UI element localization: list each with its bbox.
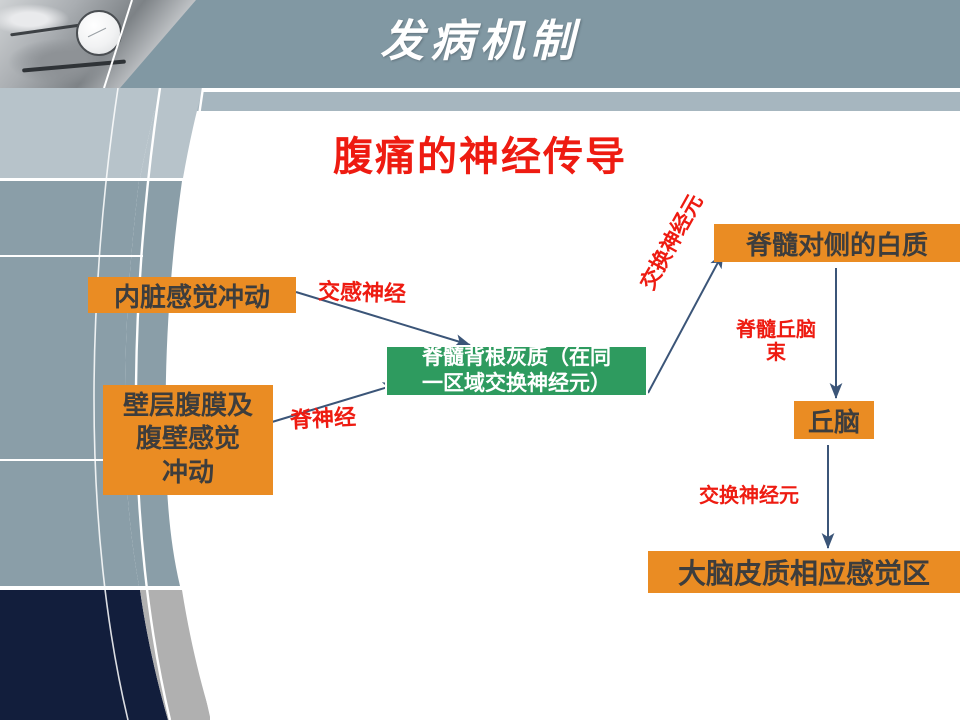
box-dorsal-root-gray-matter[interactable]: 脊髓背根灰质（在同 一区域交换神经元） xyxy=(385,345,648,397)
box-parietal-peritoneum[interactable]: 壁层腹膜及 腹壁感觉 冲动 xyxy=(103,385,273,495)
label-synapse-lower: 交换神经元 xyxy=(699,484,799,507)
slide-canvas: 发病机制 xyxy=(0,0,960,720)
label-spinothalamic-tract: 脊髓丘脑 束 xyxy=(711,318,841,364)
box-visceral-sensory[interactable]: 内脏感觉冲动 xyxy=(88,277,296,313)
label-sympathetic-nerve: 交感神经 xyxy=(318,279,407,307)
box-cerebral-cortex-sensory-area[interactable]: 大脑皮质相应感觉区 xyxy=(648,551,960,593)
box-thalamus[interactable]: 丘脑 xyxy=(794,401,874,439)
page-title: 发病机制 xyxy=(0,6,960,78)
box-contralateral-white-matter[interactable]: 脊髓对侧的白质 xyxy=(714,224,960,262)
label-synapse-upper: 交换神经元 xyxy=(635,190,707,294)
label-spinal-nerve: 脊神经 xyxy=(289,405,356,434)
diagram-title: 腹痛的神经传导 xyxy=(0,124,960,182)
